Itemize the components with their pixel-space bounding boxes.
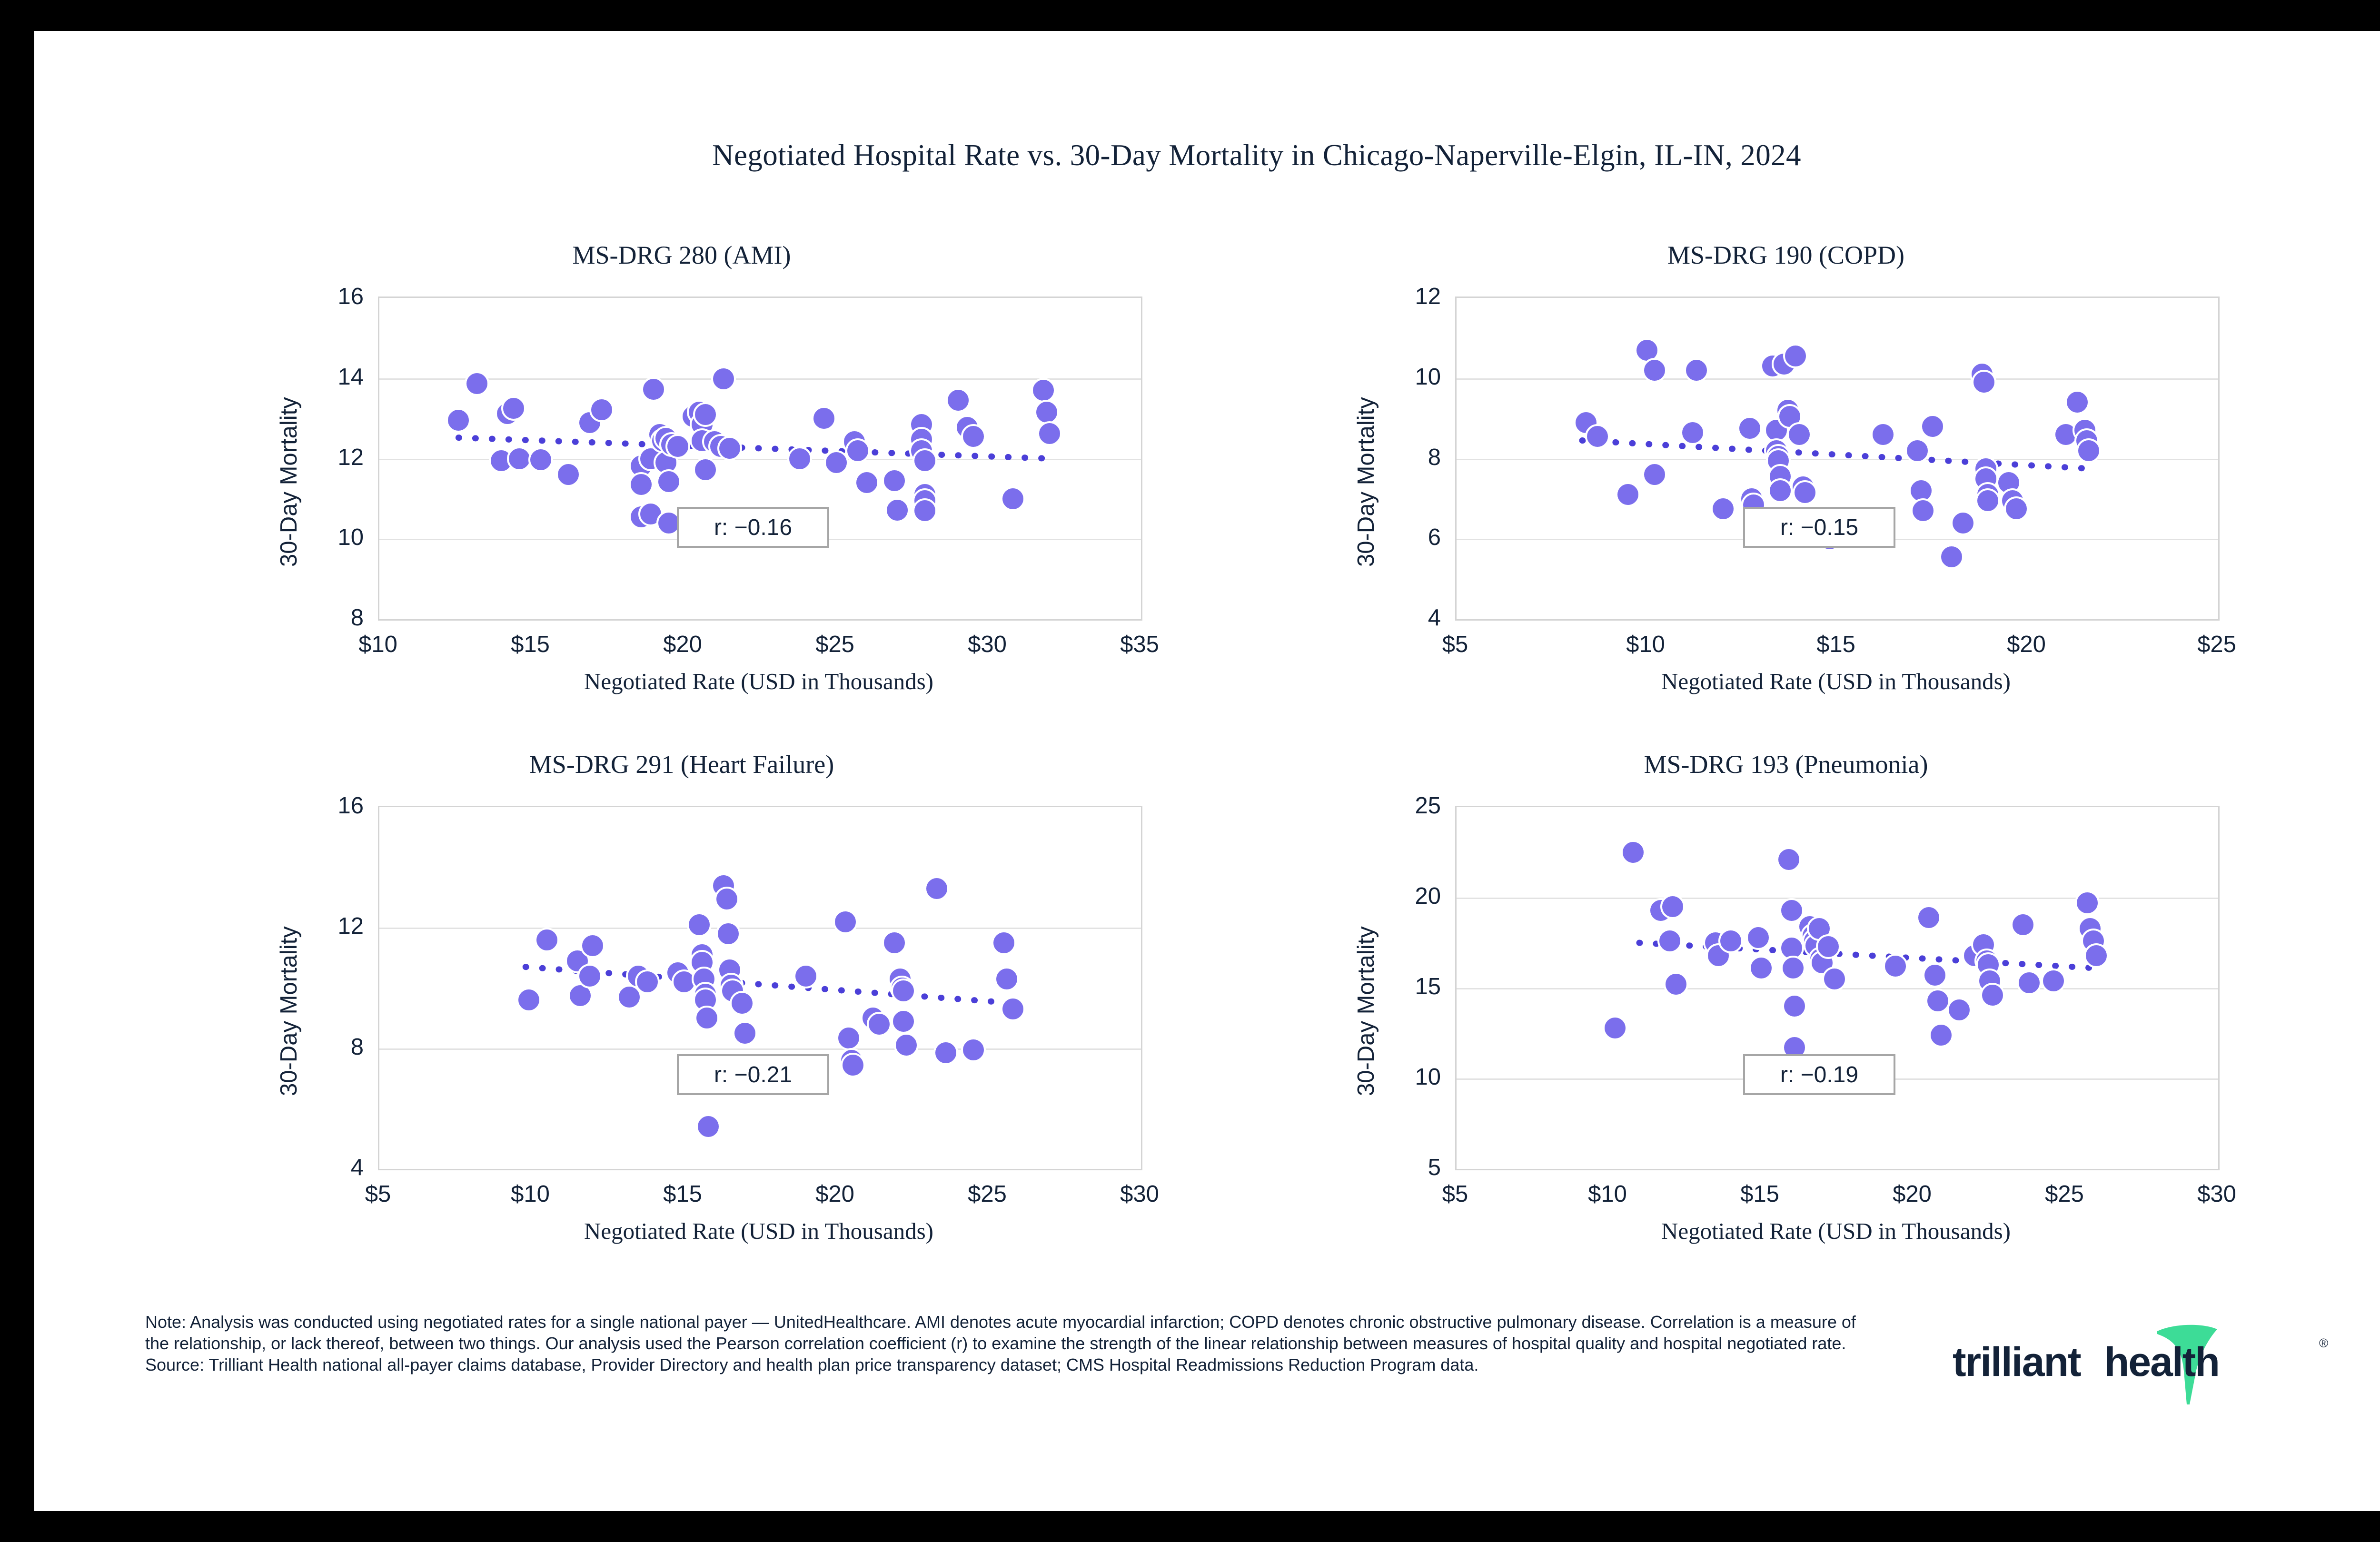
logo-registered-mark: ® bbox=[2319, 1336, 2328, 1351]
data-point bbox=[687, 912, 712, 937]
panel-ami: MS-DRG 280 (AMI)810121416$10$15$20$25$30… bbox=[134, 240, 1229, 745]
data-point bbox=[693, 402, 718, 427]
data-point bbox=[793, 964, 818, 988]
y-tick-label: 8 bbox=[1379, 444, 1441, 471]
y-tick-label: 10 bbox=[1379, 364, 1441, 390]
data-point bbox=[733, 1021, 757, 1046]
y-tick-label: 20 bbox=[1379, 883, 1441, 909]
data-point bbox=[2084, 943, 2109, 968]
data-point bbox=[1621, 840, 1646, 865]
y-tick-label: 16 bbox=[302, 792, 364, 819]
data-point bbox=[1680, 420, 1705, 445]
x-tick-label: $5 bbox=[1442, 1181, 1468, 1207]
data-point bbox=[891, 979, 916, 1003]
data-point bbox=[1822, 967, 1847, 991]
y-axis-label: 30-Day Mortality bbox=[276, 926, 302, 1096]
data-point bbox=[1871, 422, 1895, 447]
x-axis-label: Negotiated Rate (USD in Thousands) bbox=[378, 668, 1140, 695]
data-point bbox=[841, 1053, 865, 1077]
data-point bbox=[1642, 358, 1667, 383]
data-point bbox=[854, 470, 879, 495]
y-tick-label: 12 bbox=[1379, 283, 1441, 310]
data-point bbox=[2065, 390, 2090, 415]
x-tick-label: $5 bbox=[365, 1181, 391, 1207]
data-point bbox=[577, 964, 602, 988]
logo-word-trilliant: trilliant bbox=[1953, 1339, 2081, 1385]
y-tick-label: 12 bbox=[302, 913, 364, 939]
data-point bbox=[516, 988, 541, 1012]
data-point bbox=[501, 396, 526, 421]
plot-area-heart_failure bbox=[378, 806, 1142, 1170]
data-point bbox=[2004, 496, 2029, 521]
correlation-badge-copd: r: −0.15 bbox=[1743, 507, 1895, 548]
data-point bbox=[1737, 416, 1762, 441]
data-point bbox=[2017, 970, 2042, 995]
x-tick-label: $10 bbox=[511, 1181, 550, 1207]
footnote-source: Source: Trilliant Health national all-pa… bbox=[145, 1354, 1859, 1375]
x-tick-label: $20 bbox=[815, 1181, 854, 1207]
x-tick-label: $20 bbox=[1893, 1181, 1932, 1207]
footnote-block: Note: Analysis was conducted using negot… bbox=[145, 1311, 1859, 1375]
y-axis-label: 30-Day Mortality bbox=[1353, 397, 1379, 567]
x-tick-label: $15 bbox=[1816, 631, 1855, 658]
panel-pneumonia: MS-DRG 193 (Pneumonia)510152025$5$10$15$… bbox=[1239, 750, 2333, 1292]
y-tick-label: 5 bbox=[1379, 1154, 1441, 1181]
data-point bbox=[1660, 894, 1685, 919]
data-point bbox=[833, 909, 858, 934]
data-point bbox=[1781, 956, 1805, 980]
y-tick-label: 14 bbox=[302, 364, 364, 390]
x-tick-label: $20 bbox=[2007, 631, 2046, 658]
data-point bbox=[665, 434, 690, 459]
data-point bbox=[1793, 480, 1817, 505]
data-point bbox=[912, 448, 937, 473]
panel-copd: MS-DRG 190 (COPD)4681012$5$10$15$20$25Ne… bbox=[1239, 240, 2333, 745]
data-point bbox=[2075, 890, 2100, 915]
y-tick-label: 10 bbox=[302, 524, 364, 551]
y-tick-label: 8 bbox=[302, 1034, 364, 1060]
x-tick-label: $15 bbox=[663, 1181, 702, 1207]
data-point bbox=[961, 424, 986, 449]
data-point bbox=[885, 498, 910, 523]
data-point bbox=[1783, 344, 1808, 368]
data-point bbox=[1951, 511, 1975, 535]
data-point bbox=[1037, 421, 1062, 446]
data-point bbox=[1711, 496, 1735, 521]
data-point bbox=[1787, 422, 1812, 447]
data-point bbox=[1746, 925, 1771, 950]
x-tick-label: $20 bbox=[663, 631, 702, 658]
data-point bbox=[1642, 462, 1667, 487]
panel-title-heart_failure: MS-DRG 291 (Heart Failure) bbox=[134, 750, 1229, 779]
data-point bbox=[2041, 969, 2066, 993]
plot-area-pneumonia bbox=[1455, 806, 2220, 1170]
x-tick-label: $30 bbox=[2197, 1181, 2236, 1207]
data-point bbox=[580, 933, 605, 958]
y-tick-label: 4 bbox=[1379, 604, 1441, 631]
data-point bbox=[730, 991, 754, 1016]
y-tick-label: 15 bbox=[1379, 973, 1441, 1000]
data-point bbox=[882, 930, 907, 955]
data-point bbox=[912, 498, 937, 523]
data-point bbox=[1883, 954, 1908, 979]
x-axis-label: Negotiated Rate (USD in Thousands) bbox=[1455, 668, 2217, 695]
data-point bbox=[946, 388, 971, 413]
logo-wordmark: trillianthealth bbox=[1953, 1339, 2219, 1386]
data-point bbox=[1749, 956, 1774, 980]
x-tick-label: $25 bbox=[815, 631, 854, 658]
y-tick-label: 8 bbox=[302, 604, 364, 631]
data-point bbox=[465, 371, 489, 396]
data-point bbox=[1657, 929, 1682, 953]
panel-heart-failure: MS-DRG 291 (Heart Failure)481216$5$10$15… bbox=[134, 750, 1229, 1292]
correlation-badge-ami: r: −0.16 bbox=[677, 507, 829, 548]
data-point bbox=[641, 377, 666, 402]
panel-title-copd: MS-DRG 190 (COPD) bbox=[1239, 240, 2333, 270]
trendline-copd bbox=[1457, 298, 2218, 619]
data-point bbox=[787, 446, 812, 471]
data-point bbox=[535, 928, 559, 952]
data-point bbox=[1916, 905, 1941, 930]
y-tick-label: 6 bbox=[1379, 524, 1441, 551]
x-tick-label: $30 bbox=[968, 631, 1007, 658]
y-tick-label: 4 bbox=[302, 1154, 364, 1181]
x-tick-label: $5 bbox=[1442, 631, 1468, 658]
y-axis-label: 30-Day Mortality bbox=[276, 397, 302, 567]
data-point bbox=[556, 462, 581, 487]
data-point bbox=[1684, 358, 1709, 383]
data-point bbox=[694, 1006, 719, 1030]
data-point bbox=[716, 921, 741, 946]
y-tick-label: 16 bbox=[302, 283, 364, 310]
data-point bbox=[1782, 994, 1807, 1018]
x-tick-label: $10 bbox=[1588, 1181, 1627, 1207]
data-point bbox=[693, 457, 718, 482]
x-axis-label: Negotiated Rate (USD in Thousands) bbox=[1455, 1217, 2217, 1245]
data-point bbox=[882, 468, 907, 493]
data-point bbox=[992, 930, 1016, 955]
trilliant-health-logo: trillianthealth ® bbox=[1953, 1311, 2348, 1411]
data-point bbox=[961, 1038, 986, 1062]
data-point bbox=[1031, 378, 1056, 403]
correlation-badge-heart_failure: r: −0.21 bbox=[677, 1054, 829, 1095]
data-point bbox=[589, 397, 614, 422]
data-point bbox=[1947, 998, 1972, 1022]
data-point bbox=[1718, 929, 1743, 953]
data-point bbox=[1816, 934, 1841, 959]
x-tick-label: $30 bbox=[1120, 1181, 1159, 1207]
panel-title-pneumonia: MS-DRG 193 (Pneumonia) bbox=[1239, 750, 2333, 779]
data-point bbox=[1905, 438, 1930, 463]
plot-area-copd bbox=[1455, 297, 2220, 621]
data-point bbox=[1603, 1016, 1627, 1040]
data-point bbox=[2011, 912, 2035, 937]
data-point bbox=[836, 1026, 861, 1050]
data-point bbox=[1664, 972, 1688, 997]
data-point bbox=[714, 887, 739, 911]
y-axis-label: 30-Day Mortality bbox=[1353, 926, 1379, 1096]
data-point bbox=[1585, 424, 1610, 449]
data-point bbox=[867, 1012, 892, 1037]
data-point bbox=[824, 450, 849, 475]
data-point bbox=[1929, 1023, 1954, 1048]
data-point bbox=[1975, 488, 2000, 513]
correlation-badge-pneumonia: r: −0.19 bbox=[1743, 1054, 1895, 1095]
x-tick-label: $25 bbox=[968, 1181, 1007, 1207]
x-tick-label: $15 bbox=[511, 631, 550, 658]
logo-word-health: health bbox=[2104, 1339, 2219, 1385]
data-point bbox=[1939, 544, 1964, 569]
data-point bbox=[891, 1009, 916, 1034]
data-point bbox=[924, 876, 949, 901]
trendline-heart_failure bbox=[379, 807, 1141, 1169]
figure-canvas: Negotiated Hospital Rate vs. 30-Day Mort… bbox=[34, 31, 2380, 1511]
panel-title-ami: MS-DRG 280 (AMI) bbox=[134, 240, 1229, 270]
data-point bbox=[1776, 847, 1801, 872]
data-point bbox=[994, 967, 1019, 991]
y-tick-label: 12 bbox=[302, 444, 364, 471]
x-tick-label: $25 bbox=[2045, 1181, 2084, 1207]
x-axis-label: Negotiated Rate (USD in Thousands) bbox=[378, 1217, 1140, 1245]
plot-area-ami bbox=[378, 297, 1142, 621]
data-point bbox=[1920, 414, 1945, 439]
x-tick-label: $10 bbox=[1626, 631, 1665, 658]
x-tick-label: $25 bbox=[2197, 631, 2236, 658]
data-point bbox=[528, 447, 553, 472]
data-point bbox=[1768, 478, 1793, 503]
y-tick-label: 10 bbox=[1379, 1064, 1441, 1090]
data-point bbox=[2076, 438, 2101, 463]
data-point bbox=[1001, 486, 1025, 511]
x-tick-label: $35 bbox=[1120, 631, 1159, 658]
data-point bbox=[845, 438, 870, 463]
data-point bbox=[1911, 498, 1935, 523]
data-point bbox=[1923, 963, 1947, 988]
y-tick-label: 25 bbox=[1379, 792, 1441, 819]
data-point bbox=[1972, 370, 1996, 395]
x-tick-label: $10 bbox=[358, 631, 397, 658]
x-tick-label: $15 bbox=[1740, 1181, 1779, 1207]
figure-title: Negotiated Hospital Rate vs. 30-Day Mort… bbox=[34, 138, 2380, 173]
footnote-note: Note: Analysis was conducted using negot… bbox=[145, 1311, 1859, 1354]
